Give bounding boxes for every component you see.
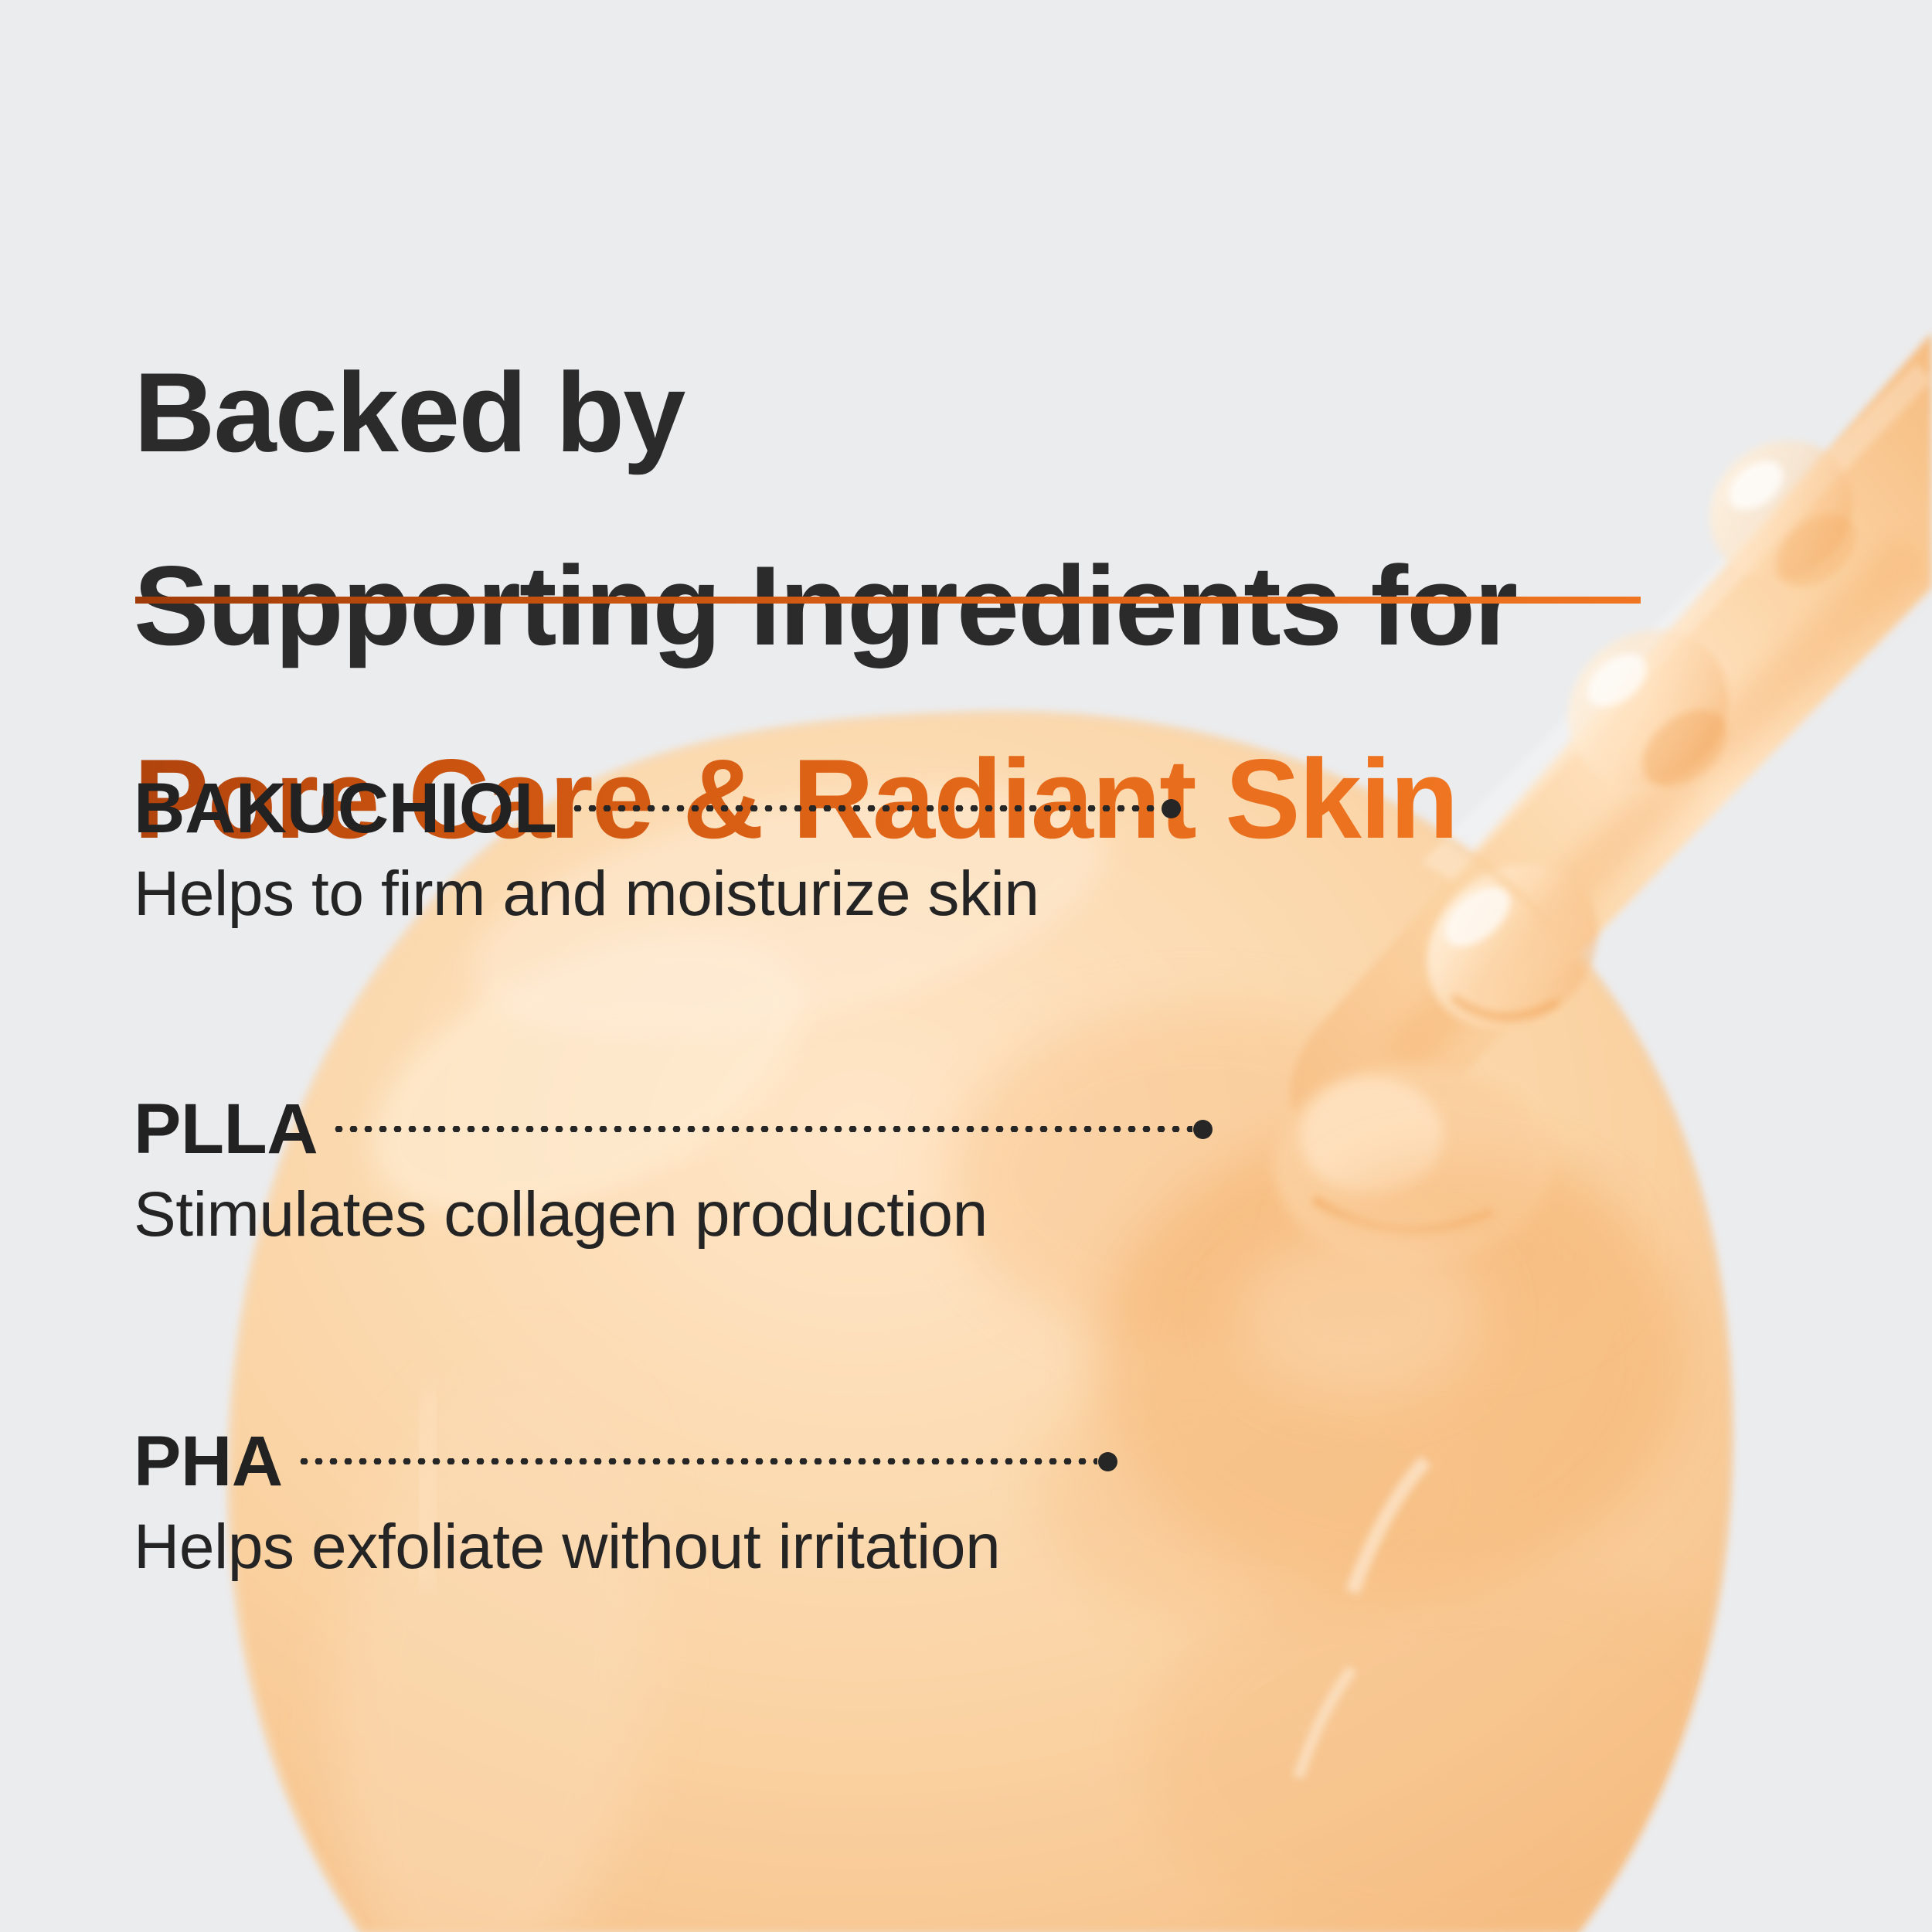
leader-line	[297, 1456, 1117, 1467]
ingredient-description: Helps exfoliate without irritation	[134, 1514, 1117, 1581]
ingredient-description: Stimulates collagen production	[134, 1182, 1213, 1249]
leader-dots	[297, 1458, 1097, 1464]
ingredient-description: Helps to firm and moisturize skin	[134, 861, 1181, 928]
ingredient-item-bakuchiol: BAKUCHIOL Helps to firm and moisturize s…	[134, 773, 1181, 928]
headline-accent-underline	[135, 597, 1641, 604]
leader-line	[332, 1124, 1213, 1134]
headline-line-1: Backed by	[134, 364, 1880, 461]
ingredient-name: BAKUCHIOL	[134, 773, 556, 844]
ingredient-item-plla: PLLA Stimulates collagen production	[134, 1094, 1213, 1249]
ingredient-name: PLLA	[134, 1094, 318, 1165]
leader-dots	[332, 1126, 1192, 1132]
ingredient-heading-row: BAKUCHIOL	[134, 773, 1181, 844]
leader-dots	[570, 805, 1161, 811]
leader-endpoint-dot	[1193, 1120, 1213, 1139]
ingredient-name: PHA	[134, 1426, 283, 1497]
ingredient-item-pha: PHA Helps exfoliate without irritation	[134, 1426, 1117, 1581]
ingredient-heading-row: PLLA	[134, 1094, 1213, 1165]
promo-graphic: Backed by Supporting Ingredients for Por…	[0, 0, 1932, 1932]
ingredient-heading-row: PHA	[134, 1426, 1117, 1497]
leader-endpoint-dot	[1098, 1452, 1117, 1471]
headline-line-2: Supporting Ingredients for	[134, 557, 1880, 654]
leader-endpoint-dot	[1162, 799, 1181, 818]
leader-line	[570, 803, 1181, 814]
